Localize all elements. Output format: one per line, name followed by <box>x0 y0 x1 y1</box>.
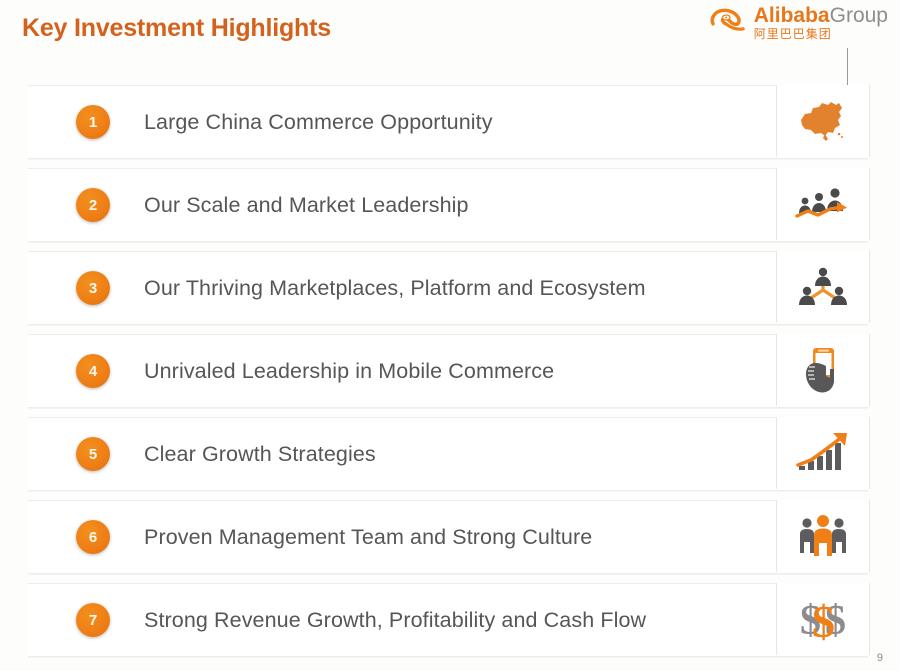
highlight-number-badge: 1 <box>76 105 110 139</box>
dollar-signs-icon: $ $ $ <box>776 583 870 655</box>
page-number: 9 <box>877 652 883 664</box>
highlight-label: Our Scale and Market Leadership <box>144 193 469 218</box>
highlight-number-badge: 4 <box>76 354 110 388</box>
highlight-label: Clear Growth Strategies <box>144 442 376 467</box>
highlight-row[interactable]: 6 Proven Management Team and Strong Cult… <box>28 500 868 574</box>
highlight-label: Unrivaled Leadership in Mobile Commerce <box>144 359 554 384</box>
highlight-row[interactable]: 3 Our Thriving Marketplaces, Platform an… <box>28 251 868 325</box>
highlight-number-badge: 5 <box>76 437 110 471</box>
highlight-label: Proven Management Team and Strong Cultur… <box>144 525 592 550</box>
logo-chinese-text: 阿里巴巴集团 <box>754 28 888 40</box>
highlight-number-badge: 7 <box>76 603 110 637</box>
alibaba-swirl-icon <box>708 4 752 36</box>
highlight-number-badge: 3 <box>76 271 110 305</box>
logo-wordmark: AlibabaGroup <box>754 5 888 26</box>
highlight-row[interactable]: 7 Strong Revenue Growth, Profitability a… <box>28 583 868 657</box>
bar-chart-arrow-icon <box>776 417 870 489</box>
highlight-row[interactable]: 2 Our Scale and Market Leadership <box>28 168 868 242</box>
highlight-label: Strong Revenue Growth, Profitability and… <box>144 608 646 633</box>
slide: Key Investment Highlights AlibabaGroup 阿… <box>0 0 900 671</box>
china-map-icon <box>776 85 870 157</box>
people-network-icon <box>776 251 870 323</box>
highlight-row[interactable]: 1 Large China Commerce Opportunity <box>28 85 868 159</box>
highlights-list: 1 Large China Commerce Opportunity 2 Our… <box>28 85 868 657</box>
highlight-label: Large China Commerce Opportunity <box>144 110 493 135</box>
hand-holding-phone-icon <box>776 334 870 406</box>
highlight-row[interactable]: 4 Unrivaled Leadership in Mobile Commerc… <box>28 334 868 408</box>
highlight-label: Our Thriving Marketplaces, Platform and … <box>144 276 646 301</box>
highlight-number-badge: 6 <box>76 520 110 554</box>
logo-stem-line <box>847 48 848 86</box>
highlight-number-badge: 2 <box>76 188 110 222</box>
logo-brand-text: Alibaba <box>754 4 830 27</box>
team-leader-icon <box>776 500 870 572</box>
alibaba-group-logo: AlibabaGroup 阿里巴巴集团 <box>708 4 888 50</box>
highlight-row[interactable]: 5 Clear Growth Strategies <box>28 417 868 491</box>
svg-text:$: $ <box>812 596 835 644</box>
page-title: Key Investment Highlights <box>22 14 331 43</box>
people-growth-arrow-icon <box>776 168 870 240</box>
logo-suffix-text: Group <box>830 4 888 27</box>
